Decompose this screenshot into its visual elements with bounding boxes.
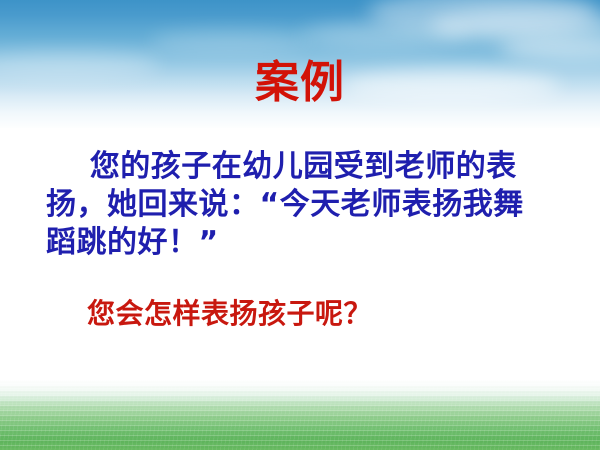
slide-canvas: 案例 您的孩子在幼儿园受到老师的表 扬，她回来说：“今天老师表扬我舞 蹈跳的好！… — [0, 0, 600, 450]
body-paragraph: 您的孩子在幼儿园受到老师的表 扬，她回来说：“今天老师表扬我舞 蹈跳的好！” — [46, 148, 562, 262]
body-line: 蹈跳的好！” — [46, 224, 562, 262]
slide-content: 案例 您的孩子在幼儿园受到老师的表 扬，她回来说：“今天老师表扬我舞 蹈跳的好！… — [0, 0, 600, 450]
page-title: 案例 — [0, 58, 600, 108]
body-line: 您的孩子在幼儿园受到老师的表 — [46, 148, 562, 186]
question-prompt: 您会怎样表扬孩子呢？ — [46, 296, 562, 332]
body-line: 扬，她回来说：“今天老师表扬我舞 — [46, 186, 562, 224]
